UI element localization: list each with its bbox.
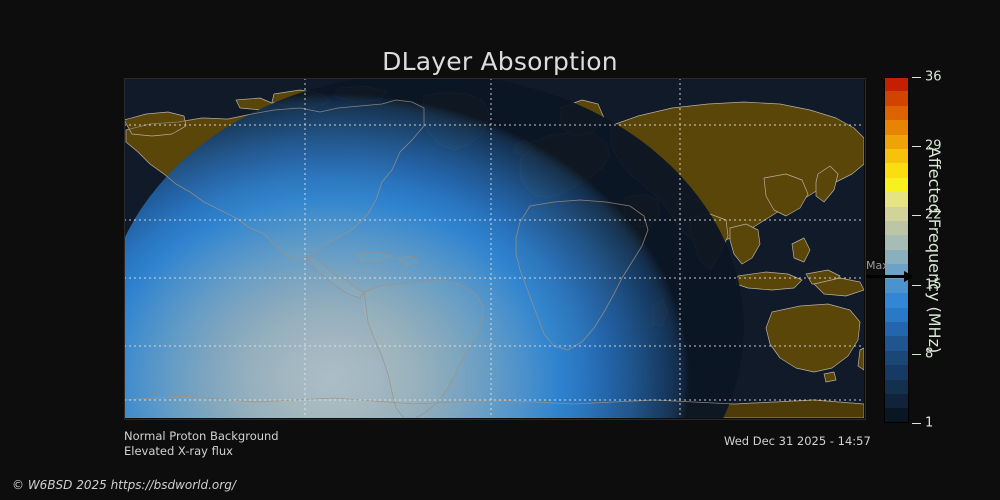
- copyright-notice: © W6BSD 2025 https://bsdworld.org/: [12, 478, 236, 492]
- colorbar-band: [884, 106, 909, 120]
- world-map[interactable]: [124, 78, 864, 418]
- colorbar-band: [884, 336, 909, 350]
- colorbar-band: [884, 192, 909, 206]
- colorbar-band: [884, 221, 909, 235]
- colorbar-band: [884, 380, 909, 394]
- colorbar-band: [884, 163, 909, 177]
- colorbar-tick-mark: [912, 77, 921, 78]
- status-line-1: Normal Proton Background: [124, 429, 279, 444]
- colorbar-band: [884, 120, 909, 134]
- max-arrow-icon: [866, 270, 912, 283]
- colorbar-max-marker: Max: [866, 259, 914, 283]
- colorbar-band: [884, 293, 909, 307]
- colorbar-tick-mark: [912, 285, 921, 286]
- colorbar-tick-mark: [912, 146, 921, 147]
- colorbar-band: [884, 77, 909, 91]
- colorbar-tick-mark: [912, 354, 921, 355]
- colorbar-tick-mark: [912, 215, 921, 216]
- app-root: DLayer Absorption: [0, 0, 1000, 500]
- colorbar-band: [884, 308, 909, 322]
- colorbar-band: [884, 178, 909, 192]
- colorbar-band: [884, 91, 909, 105]
- status-line-2: Elevated X-ray flux: [124, 444, 279, 459]
- status-block: Normal Proton Background Elevated X-ray …: [124, 429, 279, 459]
- colorbar-band: [884, 394, 909, 408]
- colorbar-band: [884, 207, 909, 221]
- colorbar-band: [884, 322, 909, 336]
- colorbar[interactable]: [884, 77, 909, 423]
- page-title: DLayer Absorption: [0, 47, 1000, 76]
- colorbar-title: Affected Frequency (MHz): [923, 77, 945, 423]
- map-canvas: [124, 78, 864, 418]
- colorbar-band: [884, 351, 909, 365]
- colorbar-band: [884, 408, 909, 422]
- colorbar-band: [884, 235, 909, 249]
- colorbar-band: [884, 365, 909, 379]
- colorbar-tick-mark: [912, 423, 921, 424]
- colorbar-band: [884, 135, 909, 149]
- timestamp: Wed Dec 31 2025 - 14:57: [724, 434, 871, 448]
- colorbar-band: [884, 149, 909, 163]
